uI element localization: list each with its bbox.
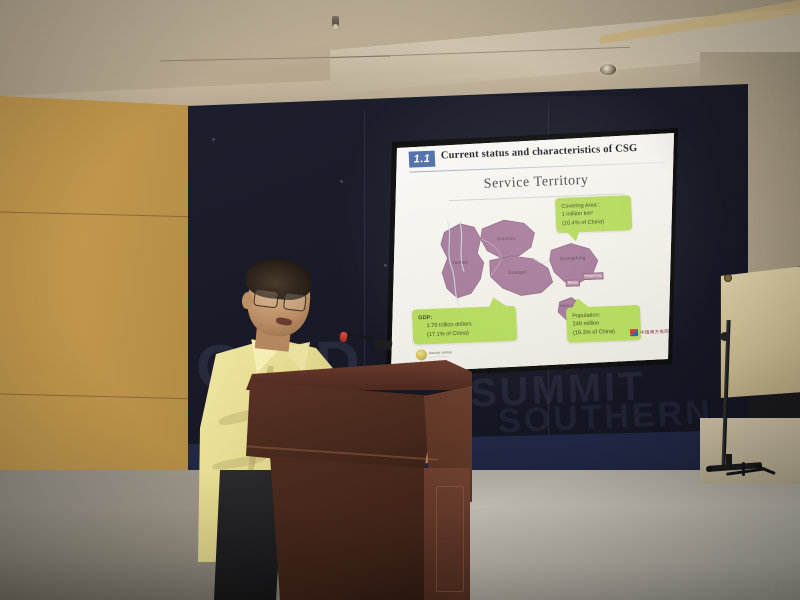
slide-content: 1.1 Current status and characteristics o… <box>400 128 678 370</box>
backdrop-dot <box>340 180 343 183</box>
map-label-guangxi: Guangxi <box>508 269 527 275</box>
sprinkler-icon <box>332 16 339 28</box>
flipchart-wheel <box>706 466 712 472</box>
downlight-icon <box>600 64 616 75</box>
flipchart-whiteboard <box>704 258 800 484</box>
slide-canvas: 1.1 Current status and characteristics o… <box>386 128 678 378</box>
slide-logo-left: Maturity Institute —————— <box>416 348 453 360</box>
slide-subtitle: Service Territory <box>402 170 671 196</box>
podium <box>246 360 472 600</box>
glasses-lens-left <box>253 289 279 309</box>
slide-section-badge: 1.1 <box>409 151 436 168</box>
microphone-base <box>373 339 392 350</box>
flipchart-clip-icon <box>724 274 732 282</box>
callout-line: (19.3% of China) <box>573 327 635 338</box>
map-city-hong-kong: Hong Kong <box>582 272 603 280</box>
left-wall <box>0 96 200 516</box>
equipment-stand <box>726 462 780 484</box>
glasses-lens-right <box>283 292 307 312</box>
callout-population: Population: 249 million (19.3% of China) <box>566 305 642 343</box>
slide-logo-right-text: 中国南方电网 <box>640 328 669 335</box>
institute-logo-icon <box>416 349 427 360</box>
map-city-macau: Macau <box>566 279 580 287</box>
wall-seam <box>0 212 200 218</box>
csg-logo-icon <box>630 329 638 336</box>
microphone-head-icon <box>339 332 347 343</box>
wall-seam <box>0 394 200 400</box>
map-label-yunnan: Yunnan <box>452 259 469 265</box>
flipchart-adjust-knob <box>720 332 730 341</box>
map-region-guangxi <box>489 254 553 296</box>
backdrop-dot <box>212 138 215 141</box>
projected-slide: 1.1 Current status and characteristics o… <box>386 128 678 378</box>
flipchart-board <box>720 266 800 400</box>
callout-line: (10.4% of China) <box>562 217 626 228</box>
podium-moulding <box>436 486 464 592</box>
map-label-guangdong: Guangdong <box>560 255 586 261</box>
slide-logo-left-rule: —————— <box>429 354 453 359</box>
podium-body <box>270 456 444 600</box>
presentation-photo-scene: GRID SUMMIT SOUTHERN 1.1 Current status … <box>0 0 800 600</box>
stand-post <box>742 462 745 476</box>
map-label-guizhou: Guizhou <box>497 236 516 242</box>
callout-covering-area: Covering Area : 1 million km² (10.4% of … <box>555 195 633 233</box>
slide-logo-right: 中国南方电网 <box>630 328 669 336</box>
gooseneck-microphone <box>330 330 388 360</box>
callout-gdp: GDP: 1.76 trillion dollars (17.1% of Chi… <box>412 306 518 345</box>
slide-title: Current status and characteristics of CS… <box>441 143 638 162</box>
